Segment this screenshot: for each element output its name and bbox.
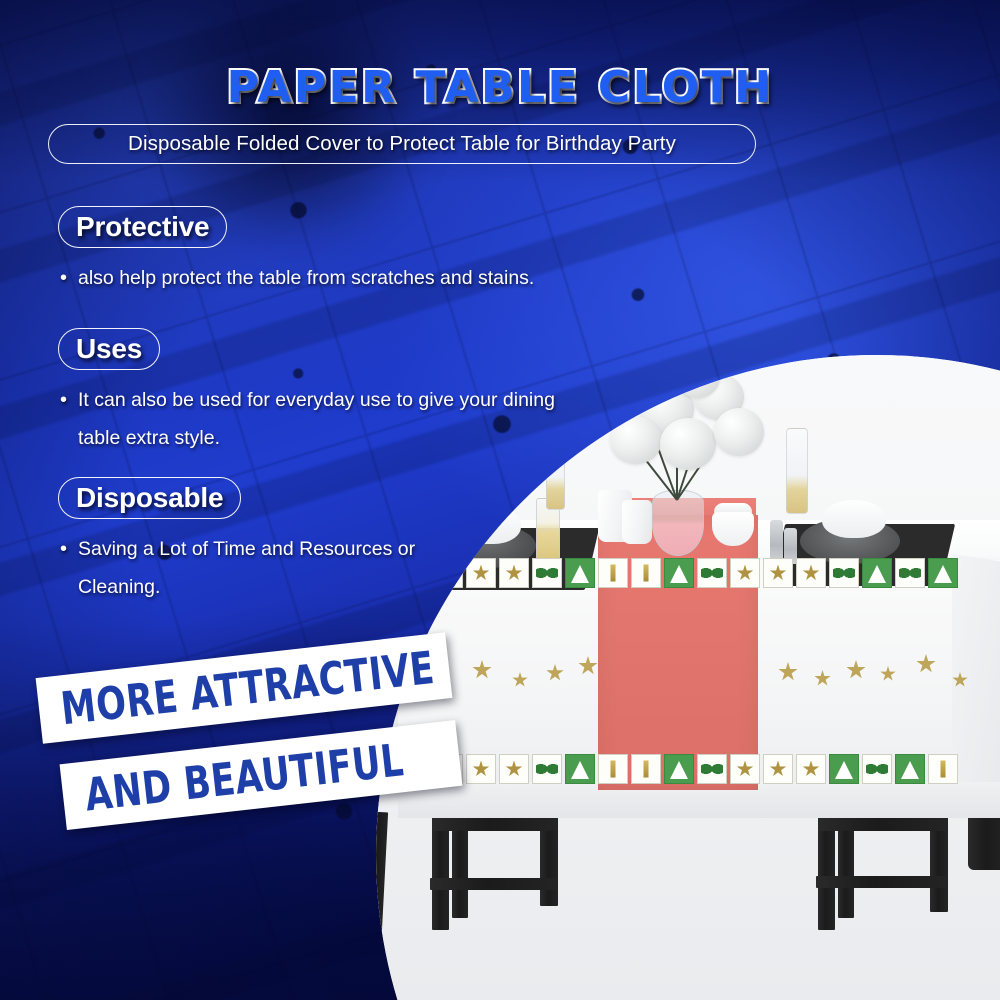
candle-tile	[631, 558, 661, 588]
pitcher-small	[622, 500, 652, 544]
feature-heading-pill: Protective	[58, 206, 227, 248]
bowl-right	[822, 500, 886, 538]
feature-bullets: also help protect the table from scratch…	[58, 259, 534, 297]
rose-bloom	[714, 408, 764, 456]
feature-heading-pill: Uses	[58, 328, 160, 370]
subtitle-pill: Disposable Folded Cover to Protect Table…	[48, 124, 756, 164]
feature-heading: Protective	[76, 211, 209, 243]
holly-tile	[895, 558, 925, 588]
feature-bullets: Saving a Lot of Time and Resources or Cl…	[58, 530, 418, 606]
cloth-border-upper	[400, 556, 1000, 590]
rose-bloom	[610, 416, 662, 464]
bowl-left	[459, 506, 521, 544]
tree-tile	[664, 558, 694, 588]
holly-tile	[532, 558, 562, 588]
candle-tile	[928, 754, 958, 784]
chair-rail	[818, 818, 948, 831]
rose-bloom	[676, 356, 720, 398]
holly-tile	[829, 558, 859, 588]
rose-bloom	[660, 418, 716, 470]
feature-bullets: It can also be used for everyday use to …	[58, 381, 588, 457]
chair-rail	[816, 876, 948, 888]
star-tile	[763, 558, 793, 588]
tree-tile	[565, 558, 595, 588]
star-tile	[433, 558, 463, 588]
tree-tile	[664, 754, 694, 784]
bullet-item: also help protect the table from scratch…	[78, 259, 534, 297]
chair-rail	[430, 878, 558, 890]
star-tile	[730, 558, 760, 588]
holly-tile	[697, 558, 727, 588]
feature-heading-pill: Disposable	[58, 477, 241, 519]
star-tile	[499, 754, 529, 784]
chair-rail	[432, 818, 558, 831]
product-infographic: PAPER TABLE CLOTH Disposable Folded Cove…	[0, 0, 1000, 1000]
feature-protective: Protective also help protect the table f…	[58, 206, 534, 297]
holly-tile	[532, 754, 562, 784]
tree-tile	[895, 754, 925, 784]
star-tile	[730, 754, 760, 784]
page-title: PAPER TABLE CLOTH	[0, 62, 1000, 113]
tree-tile	[928, 558, 958, 588]
candle-tile	[598, 558, 628, 588]
tall-glass-right	[786, 428, 808, 514]
subtitle-text: Disposable Folded Cover to Protect Table…	[128, 132, 676, 156]
tree-tile	[862, 558, 892, 588]
candle-tile	[598, 754, 628, 784]
bullet-item: Saving a Lot of Time and Resources or Cl…	[78, 530, 418, 606]
holly-tile	[862, 754, 892, 784]
star-tile	[466, 754, 496, 784]
holly-tile	[697, 754, 727, 784]
star-tile	[796, 754, 826, 784]
tree-tile	[565, 754, 595, 784]
star-tile	[499, 558, 529, 588]
feature-uses: Uses It can also be used for everyday us…	[58, 328, 588, 457]
bullet-item: It can also be used for everyday use to …	[78, 381, 588, 457]
feature-disposable: Disposable Saving a Lot of Time and Reso…	[58, 477, 418, 606]
feature-heading: Uses	[76, 333, 142, 365]
cloth-border-lower	[400, 752, 1000, 786]
feature-heading: Disposable	[76, 482, 223, 514]
star-tile	[466, 558, 496, 588]
candle-tile	[631, 754, 661, 784]
star-tile	[796, 558, 826, 588]
star-tile	[763, 754, 793, 784]
tree-tile	[829, 754, 859, 784]
